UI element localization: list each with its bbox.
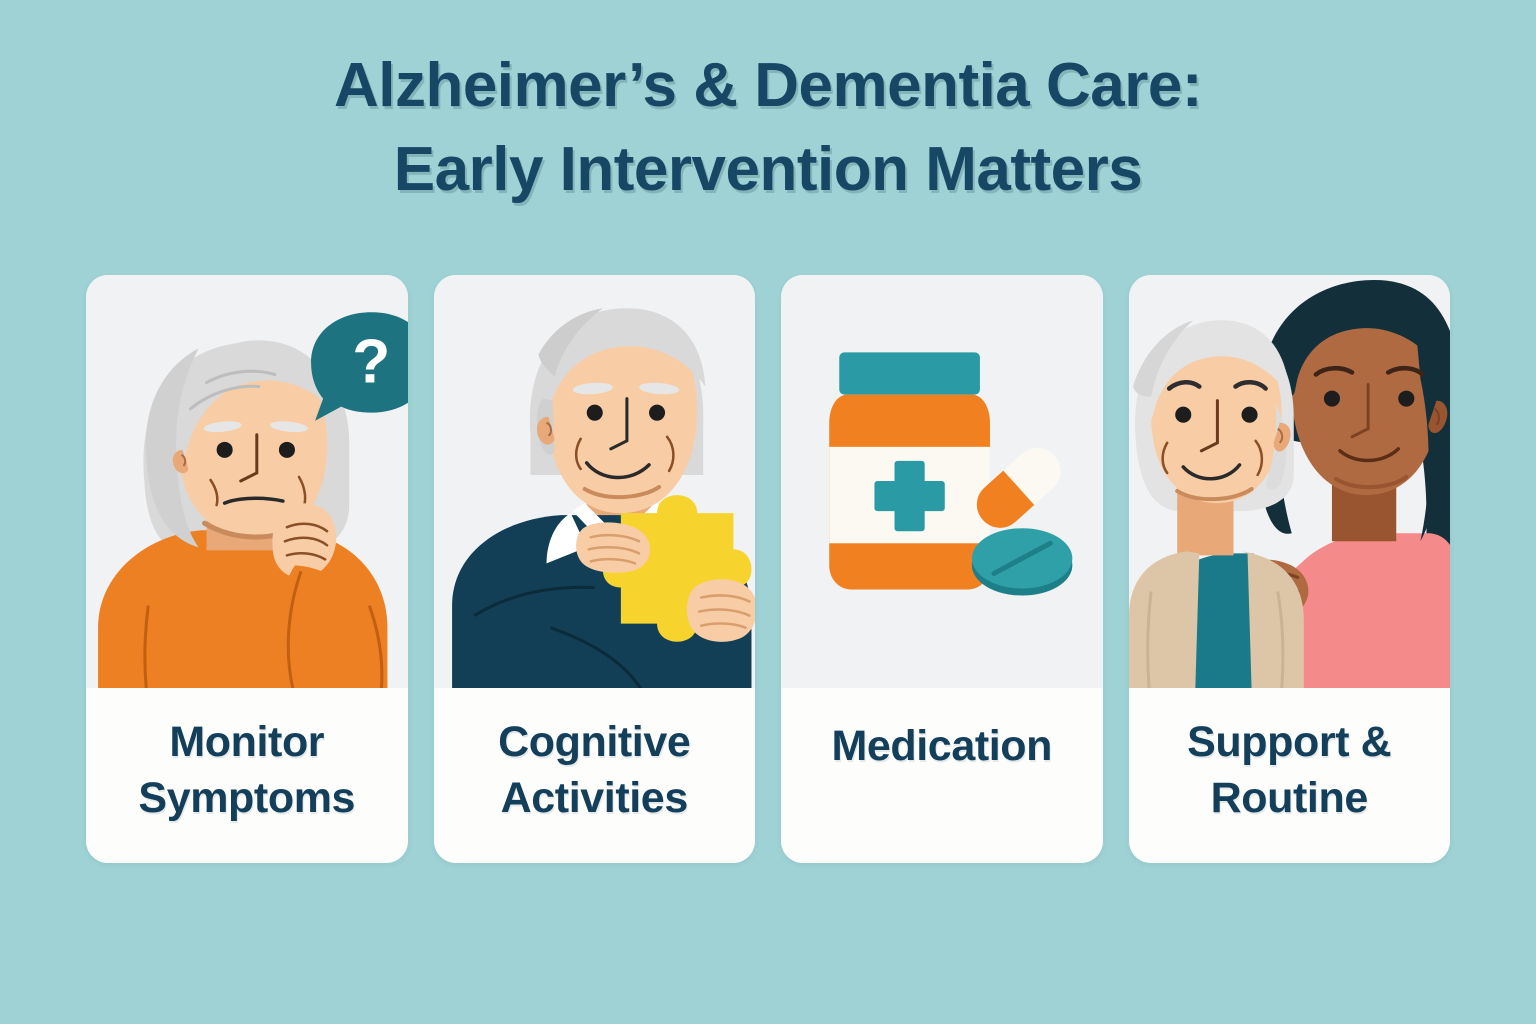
card-monitor-symptoms[interactable]: ? Monitor Symptoms [86,275,408,863]
tablet [972,528,1072,595]
page-title: Alzheimer’s & Dementia Care: Early Inter… [0,44,1536,212]
card-label-line-1: Cognitive [450,714,740,770]
card-label-line-1: Medication [797,718,1087,774]
card-cognitive-activities[interactable]: Cognitive Activities [434,275,756,863]
card-medication[interactable]: Medication [781,275,1103,863]
question-bubble: ? [311,312,407,421]
card-support-routine[interactable]: Support & Routine [1129,275,1451,863]
title-line-2: Early Intervention Matters [0,128,1536,212]
illustration-caregiver-and-elder [1129,275,1451,688]
title-line-1: Alzheimer’s & Dementia Care: [0,44,1536,128]
card-label-monitor-symptoms: Monitor Symptoms [86,688,408,863]
card-label-line-1: Monitor [102,714,392,770]
card-grid: ? Monitor Symptoms [86,275,1450,863]
card-label-line-2: Symptoms [102,770,392,826]
card-label-medication: Medication [781,688,1103,863]
svg-text:?: ? [352,328,390,397]
card-label-line-1: Support & [1145,714,1435,770]
card-label-line-2: Routine [1145,770,1435,826]
illustration-elderly-man-puzzle [434,275,756,688]
illustration-elderly-woman-thinking: ? [86,275,408,688]
card-label-cognitive-activities: Cognitive Activities [434,688,756,863]
card-label-line-2: Activities [450,770,740,826]
illustration-pill-bottle [781,275,1103,688]
card-label-support-routine: Support & Routine [1129,688,1451,863]
